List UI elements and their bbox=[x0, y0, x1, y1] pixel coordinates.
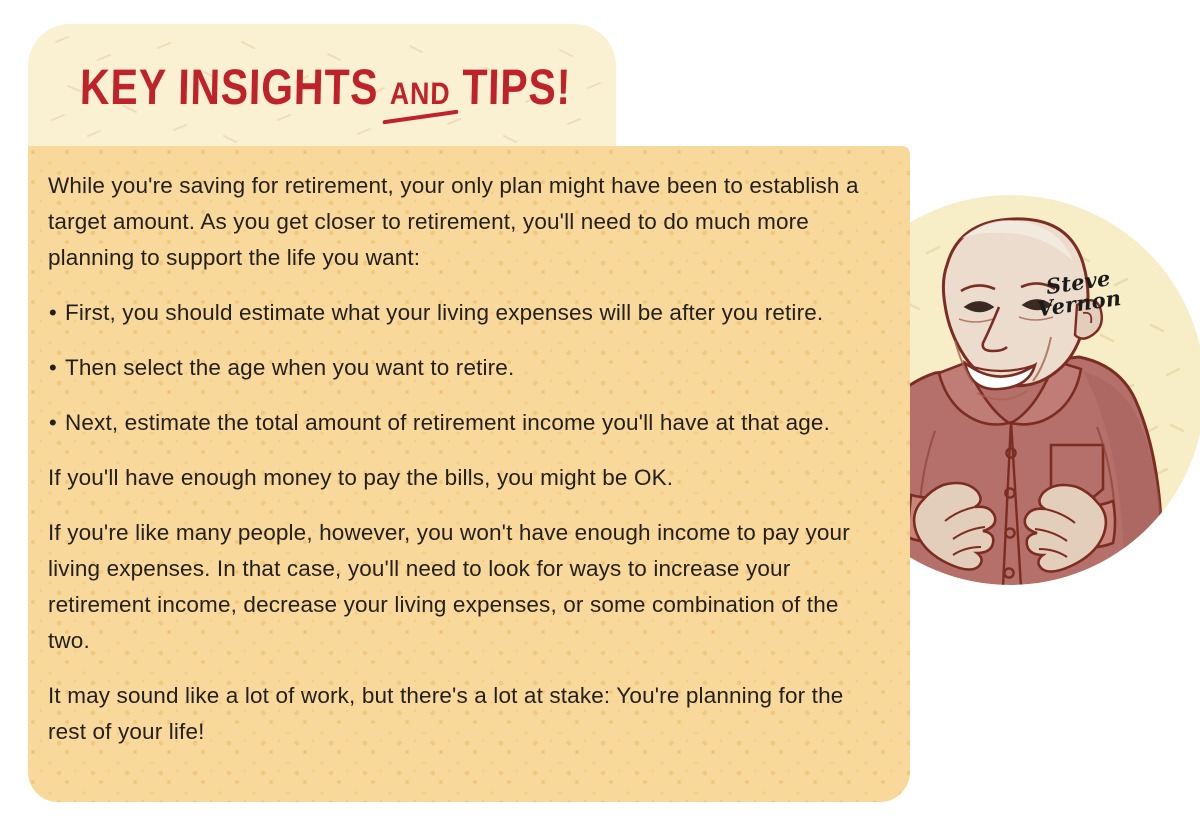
bullet-icon: • bbox=[49, 405, 57, 441]
poster-canvas: Steve Vernon bbox=[0, 0, 1200, 833]
bullet-icon: • bbox=[49, 295, 57, 331]
page-title: KEY INSIGHTS AND TIPS! bbox=[28, 24, 616, 150]
paragraph-closing: It may sound like a lot of work, but the… bbox=[48, 678, 868, 750]
title-part-1: KEY INSIGHTS bbox=[79, 58, 379, 116]
bullet-icon: • bbox=[49, 350, 57, 386]
content-body: While you're saving for retirement, your… bbox=[28, 146, 910, 802]
content-panel: While you're saving for retirement, your… bbox=[28, 146, 910, 802]
title-part-2: TIPS! bbox=[462, 58, 572, 116]
list-item-text: Then select the age when you want to ret… bbox=[65, 355, 514, 380]
list-item-text: Next, estimate the total amount of retir… bbox=[65, 410, 830, 435]
paragraph-shortfall: If you're like many people, however, you… bbox=[48, 515, 868, 659]
list-item: • Next, estimate the total amount of ret… bbox=[48, 405, 872, 441]
list-item-text: First, you should estimate what your liv… bbox=[65, 300, 823, 325]
intro-paragraph: While you're saving for retirement, your… bbox=[48, 168, 868, 276]
list-item: • Then select the age when you want to r… bbox=[48, 350, 872, 386]
paragraph-ok: If you'll have enough money to pay the b… bbox=[48, 460, 868, 496]
list-item: • First, you should estimate what your l… bbox=[48, 295, 872, 331]
header-banner: KEY INSIGHTS AND TIPS! bbox=[28, 24, 616, 150]
title-conjunction: AND bbox=[388, 76, 453, 112]
